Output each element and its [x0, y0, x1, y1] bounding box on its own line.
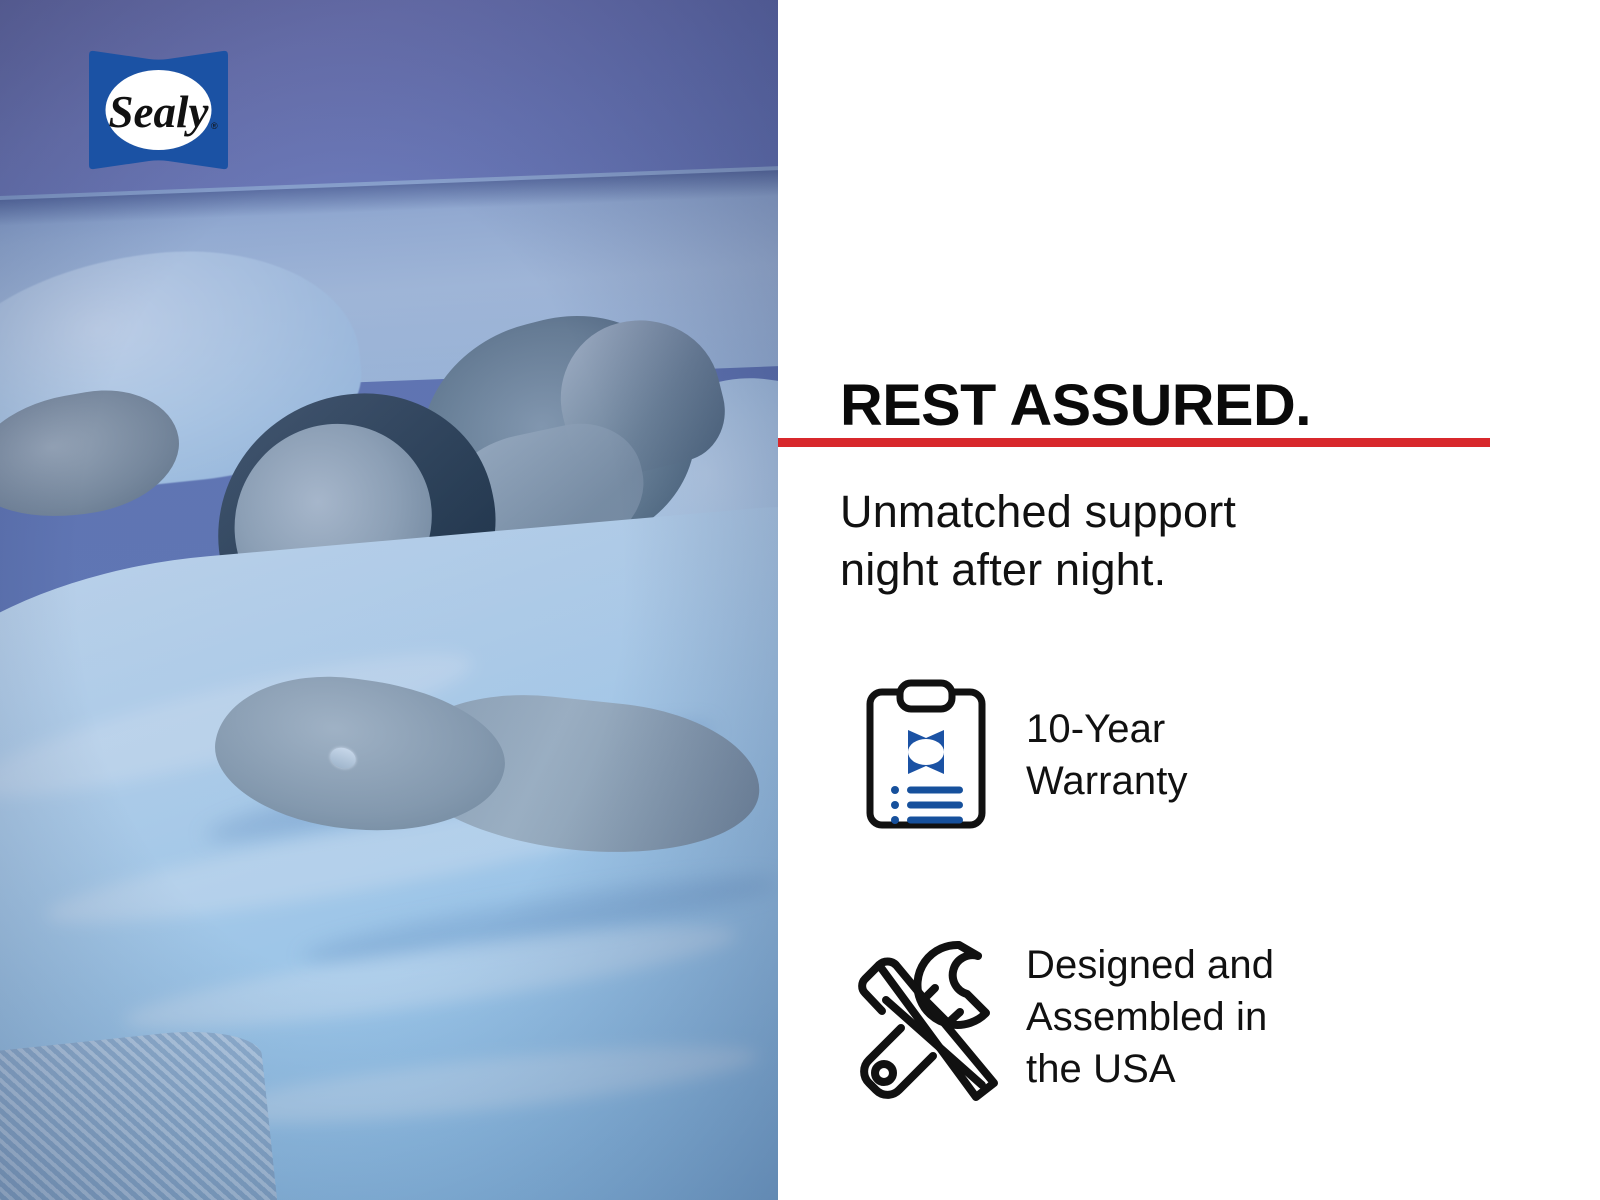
subheading-line-2: night after night. [840, 541, 1236, 599]
couple-sleeping-in-bed-photo: Sealy ® [0, 0, 778, 1200]
feature-label-line: the USA [1026, 1043, 1274, 1095]
sealy-registered-mark: ® [211, 121, 218, 131]
pencil-wrench-tools-icon [826, 912, 1026, 1122]
subheading-line-1: Unmatched support [840, 483, 1236, 541]
clipboard-line [907, 787, 963, 794]
pencil-eraser [862, 965, 882, 1011]
clipboard-line [907, 802, 963, 809]
list-item: 10-Year Warranty [826, 650, 1586, 860]
feature-list: 10-Year Warranty [826, 650, 1586, 1174]
feature-label-line: 10-Year [1026, 703, 1188, 755]
clipboard-line [907, 817, 963, 824]
red-divider [778, 438, 1490, 447]
knit-blanket [0, 1023, 280, 1200]
feature-label-line: Warranty [1026, 755, 1188, 807]
feature-label: 10-Year Warranty [1026, 703, 1188, 807]
clipboard-warranty-icon [826, 650, 1026, 860]
sealy-logo: Sealy ® [83, 47, 234, 173]
clipboard-sealy-ellipse [908, 739, 944, 765]
clipboard-bullet [891, 816, 899, 824]
page-title: REST ASSURED. [840, 372, 1311, 439]
clipboard-bullet [891, 786, 899, 794]
wrench-head [917, 945, 986, 1025]
list-item: Designed and Assembled in the USA [826, 912, 1586, 1122]
content-panel: REST ASSURED. Unmatched support night af… [778, 0, 1600, 1200]
ruler-hole [875, 1064, 893, 1082]
subheading: Unmatched support night after night. [840, 483, 1236, 599]
ruler-body [864, 1028, 933, 1095]
feature-label-line: Assembled in [1026, 991, 1274, 1043]
feature-label: Designed and Assembled in the USA [1026, 939, 1274, 1095]
feature-label-line: Designed and [1026, 939, 1274, 991]
sealy-wordmark: Sealy [109, 87, 210, 137]
clipboard-clip [900, 683, 952, 709]
sealy-rest-assured-ad: Sealy ® REST ASSURED. Unmatched support … [0, 0, 1600, 1200]
clipboard-bullet [891, 801, 899, 809]
